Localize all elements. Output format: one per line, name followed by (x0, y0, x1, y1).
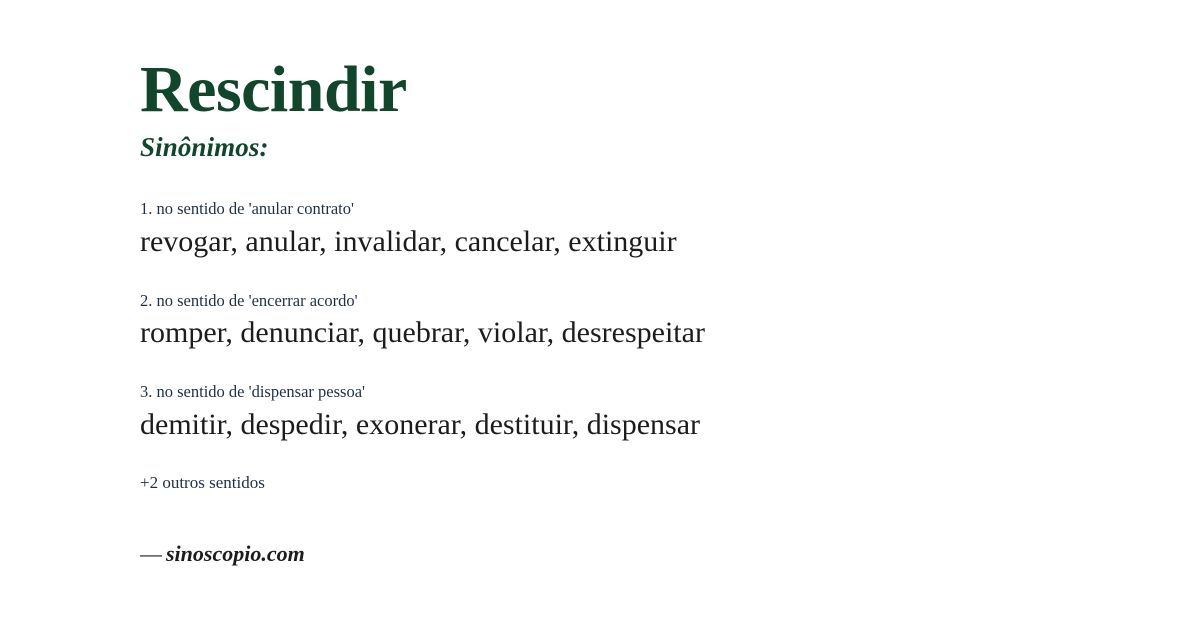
sense-group-3: 3. no sentido de 'dispensar pessoa' demi… (140, 382, 1140, 444)
sense-synonyms-1: revogar, anular, invalidar, cancelar, ex… (140, 222, 1140, 261)
sense-label-3: 3. no sentido de 'dispensar pessoa' (140, 382, 1140, 403)
section-subtitle: Sinônimos: (140, 131, 1140, 163)
sense-group-2: 2. no sentido de 'encerrar acordo' rompe… (140, 291, 1140, 353)
more-senses-note: +2 outros sentidos (140, 472, 1140, 494)
synonym-card: Rescindir Sinônimos: 1. no sentido de 'a… (0, 0, 1200, 628)
sense-label-2: 2. no sentido de 'encerrar acordo' (140, 291, 1140, 312)
source-name: sinoscopio.com (166, 541, 305, 566)
sense-synonyms-3: demitir, despedir, exonerar, destituir, … (140, 405, 1140, 444)
sense-list: 1. no sentido de 'anular contrato' revog… (140, 199, 1140, 444)
em-dash-icon: — (140, 541, 162, 566)
source-attribution: —sinoscopio.com (140, 540, 1140, 569)
page-title: Rescindir (140, 56, 1140, 125)
sense-label-1: 1. no sentido de 'anular contrato' (140, 199, 1140, 220)
card-header: Rescindir Sinônimos: (140, 0, 1140, 163)
sense-group-1: 1. no sentido de 'anular contrato' revog… (140, 199, 1140, 261)
sense-synonyms-2: romper, denunciar, quebrar, violar, desr… (140, 313, 1140, 352)
